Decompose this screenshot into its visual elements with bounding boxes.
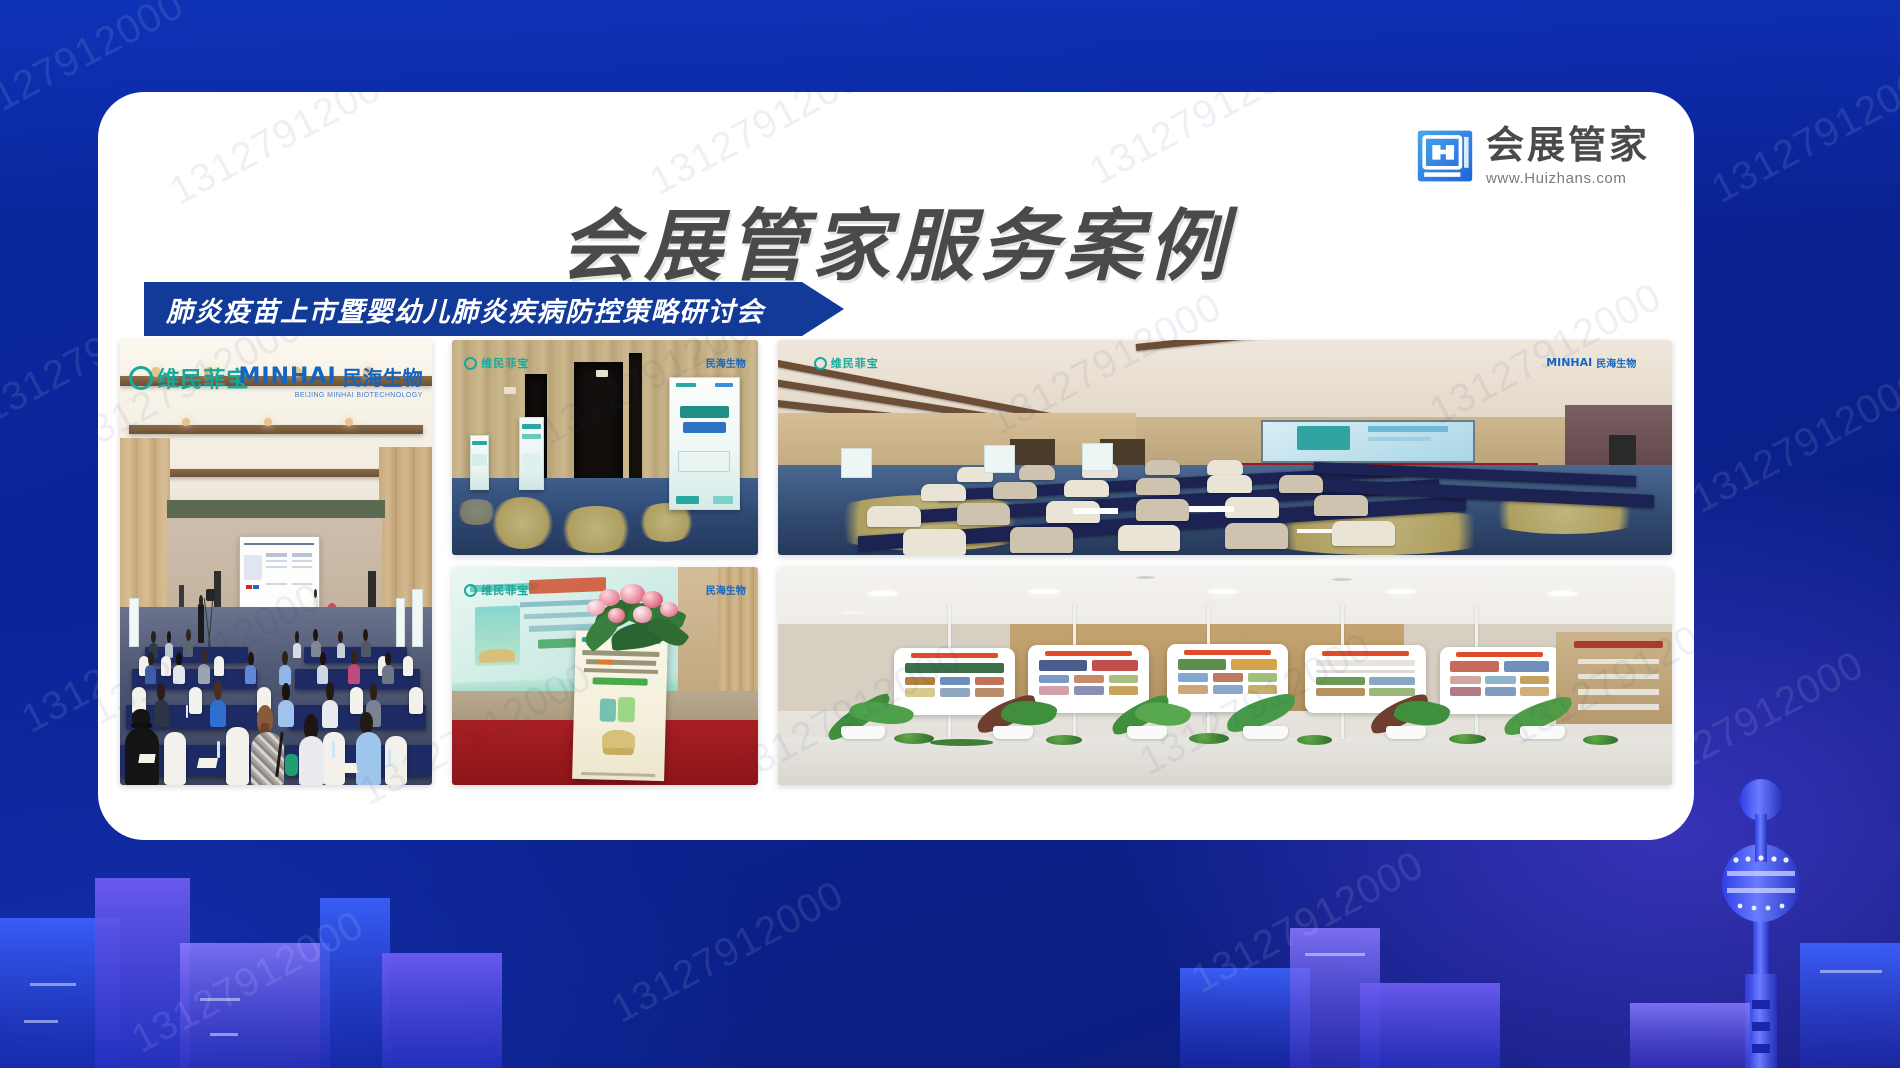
- brand-logo[interactable]: 会展管家 www.Huizhans.com: [1416, 126, 1650, 186]
- event-title-banner: 肺炎疫苗上市暨婴幼儿肺炎疾病防控策略研讨会: [144, 282, 844, 336]
- photo-gallery-grid: 维民菲宝 民海生物: [120, 340, 1672, 790]
- content-card: 会展管家 www.Huizhans.com 会展管家服务案例 肺炎疫苗上市暨婴幼…: [98, 92, 1694, 840]
- huizhans-logo-icon: [1416, 127, 1474, 185]
- watermark-text: 13127912000: [1082, 92, 1329, 194]
- photo-exhibition-boards[interactable]: [778, 567, 1672, 785]
- photo-stage-poster-flowers[interactable]: 维民菲宝 民海生物: [452, 567, 758, 785]
- watermark-text: 13127912000: [1684, 363, 1900, 523]
- photo-venue-entrance[interactable]: 维民菲宝 民海生物: [452, 340, 758, 555]
- event-title-text: 肺炎疫苗上市暨婴幼儿肺炎疾病防控策略研讨会: [144, 290, 765, 329]
- photo-audience-session[interactable]: 维民菲宝 MINHAI 民海生物 BEIJING MINHAI BIOTECHN…: [120, 340, 432, 785]
- photo-conference-hall-empty[interactable]: 维民菲宝 MINHAI 民海生物: [778, 340, 1672, 555]
- brand-name: 会展管家: [1486, 126, 1650, 164]
- brand-url: www.Huizhans.com: [1486, 171, 1650, 186]
- brand-text-block: 会展管家 www.Huizhans.com: [1486, 126, 1650, 186]
- page-title: 会展管家服务案例: [98, 184, 1694, 296]
